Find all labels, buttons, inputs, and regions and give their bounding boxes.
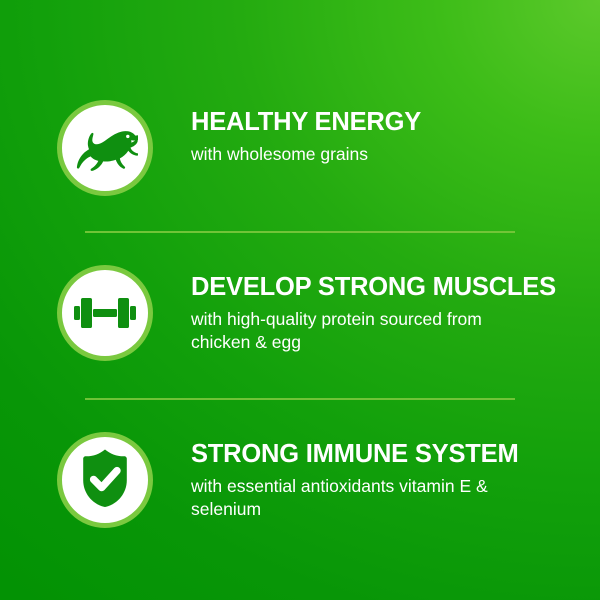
dumbbell-icon	[74, 293, 136, 333]
feature-subline: with essential antioxidants vitamin E & …	[191, 475, 543, 521]
feature-row: HEALTHY ENERGY with wholesome grains	[0, 100, 600, 196]
section-divider	[85, 231, 515, 233]
badge-wrapper	[0, 432, 191, 528]
feature-headline: STRONG IMMUNE SYSTEM	[191, 441, 576, 469]
feature-badge-healthy-energy	[57, 100, 153, 196]
section-divider	[85, 398, 515, 400]
shield-check-icon	[77, 449, 133, 511]
feature-badge-immune-system	[57, 432, 153, 528]
feature-headline: DEVELOP STRONG MUSCLES	[191, 274, 576, 302]
feature-row: DEVELOP STRONG MUSCLES with high-quality…	[0, 265, 600, 361]
feature-row: STRONG IMMUNE SYSTEM with essential anti…	[0, 432, 600, 528]
badge-wrapper	[0, 265, 191, 361]
feature-headline: HEALTHY ENERGY	[191, 109, 576, 137]
benefits-poster: HEALTHY ENERGY with wholesome grains	[0, 0, 600, 600]
feature-text: STRONG IMMUNE SYSTEM with essential anti…	[191, 432, 600, 521]
feature-subline: with high-quality protein sourced from c…	[191, 308, 543, 354]
feature-text: DEVELOP STRONG MUSCLES with high-quality…	[191, 265, 600, 354]
feature-text: HEALTHY ENERGY with wholesome grains	[191, 100, 600, 166]
feature-subline: with wholesome grains	[191, 143, 543, 166]
jumping-dog-icon	[72, 125, 138, 171]
badge-wrapper	[0, 100, 191, 196]
feature-badge-strong-muscles	[57, 265, 153, 361]
